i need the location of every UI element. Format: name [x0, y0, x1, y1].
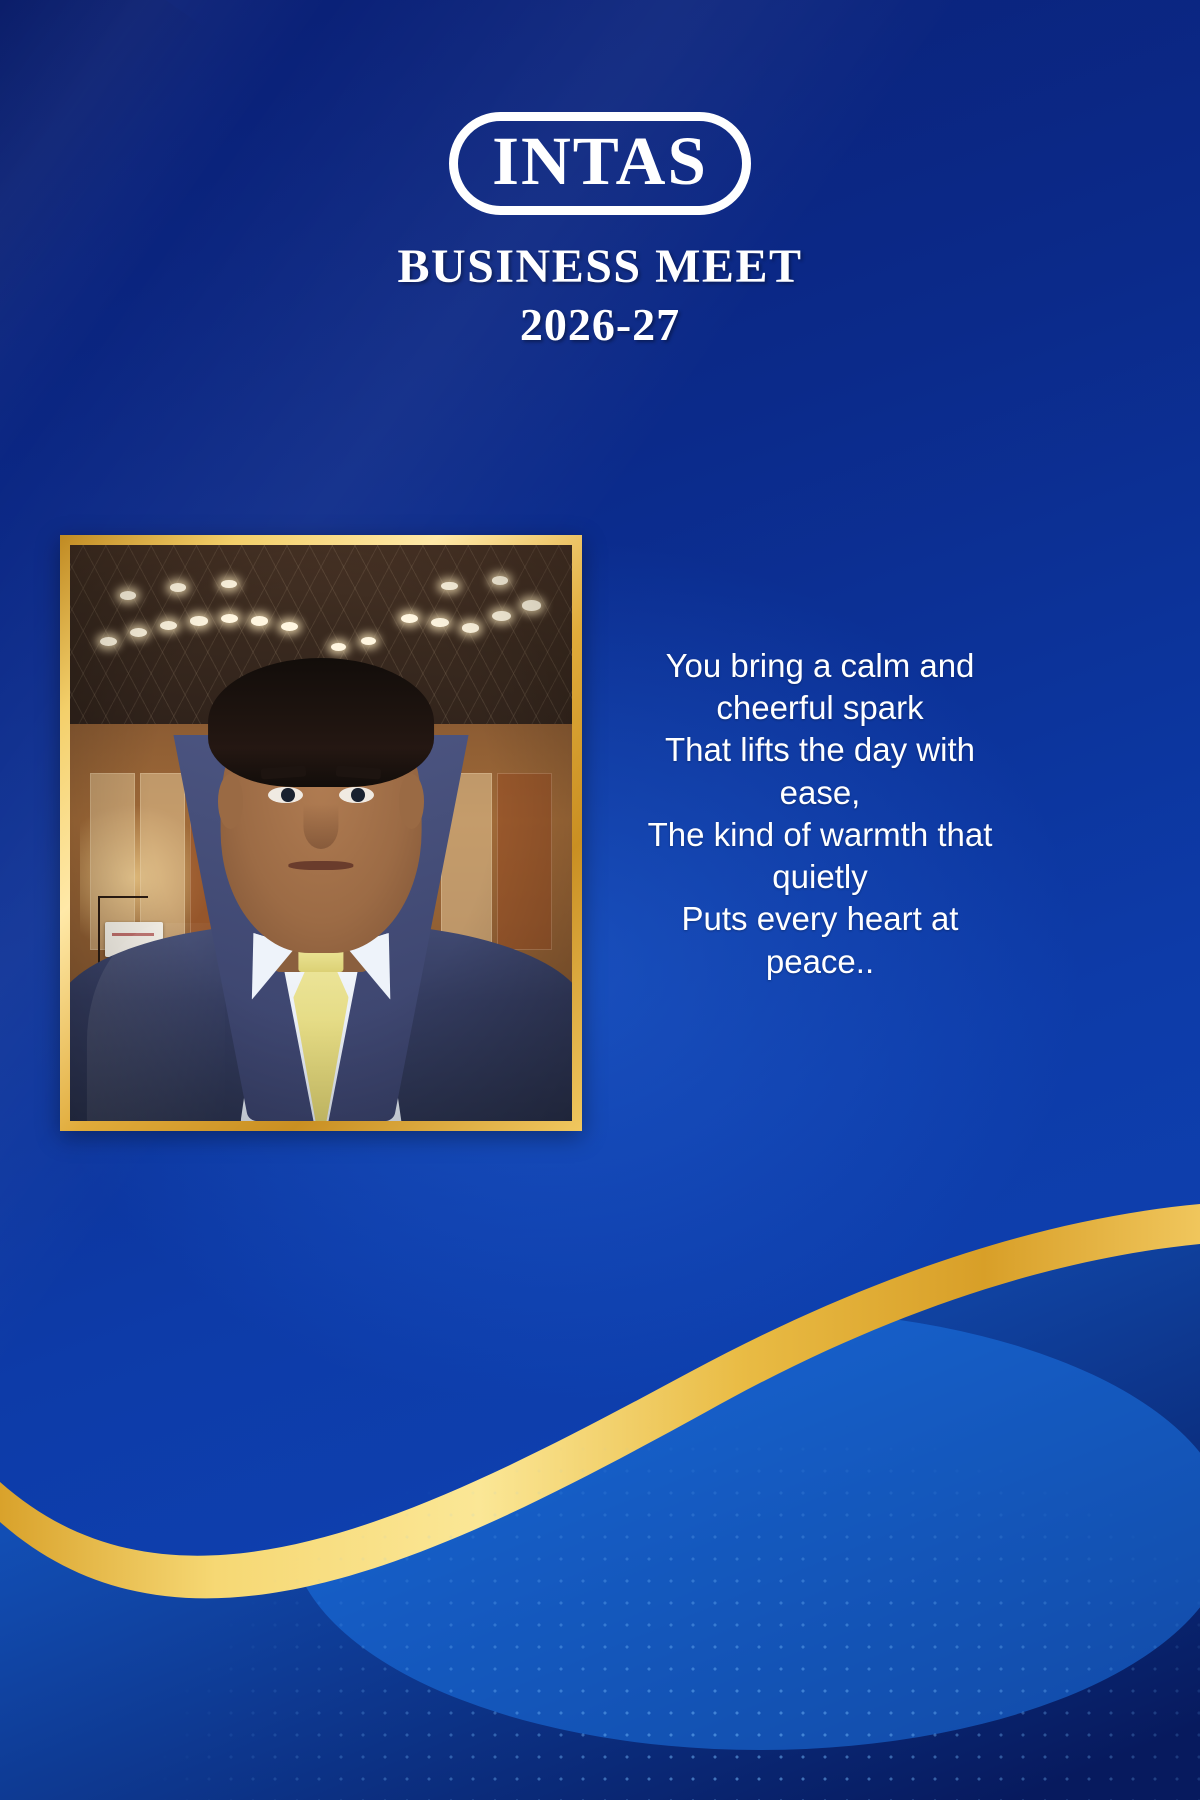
poem-line: Puts every heart at	[596, 898, 1044, 940]
portrait-photo	[70, 545, 572, 1121]
poem-text: You bring a calm and cheerful spark That…	[596, 645, 1044, 983]
portrait-photo-frame	[60, 535, 582, 1131]
event-year: 2026-27	[0, 298, 1200, 351]
photo-vignette	[70, 545, 572, 1121]
poem-line: quietly	[596, 856, 1044, 898]
poem-line: The kind of warmth that	[596, 814, 1044, 856]
poem-line: You bring a calm and	[596, 645, 1044, 687]
poster-header: INTAS BUSINESS MEET 2026-27	[0, 112, 1200, 351]
poem-line: ease,	[596, 772, 1044, 814]
intas-logo: INTAS	[449, 112, 751, 215]
poster-canvas: INTAS BUSINESS MEET 2026-27	[0, 0, 1200, 1800]
poem-line: That lifts the day with	[596, 729, 1044, 771]
poem-line: cheerful spark	[596, 687, 1044, 729]
poem-line: peace..	[596, 941, 1044, 983]
intas-logo-text: INTAS	[492, 127, 708, 196]
gold-wave-divider	[0, 1200, 1200, 1800]
event-title: BUSINESS MEET	[0, 239, 1200, 294]
